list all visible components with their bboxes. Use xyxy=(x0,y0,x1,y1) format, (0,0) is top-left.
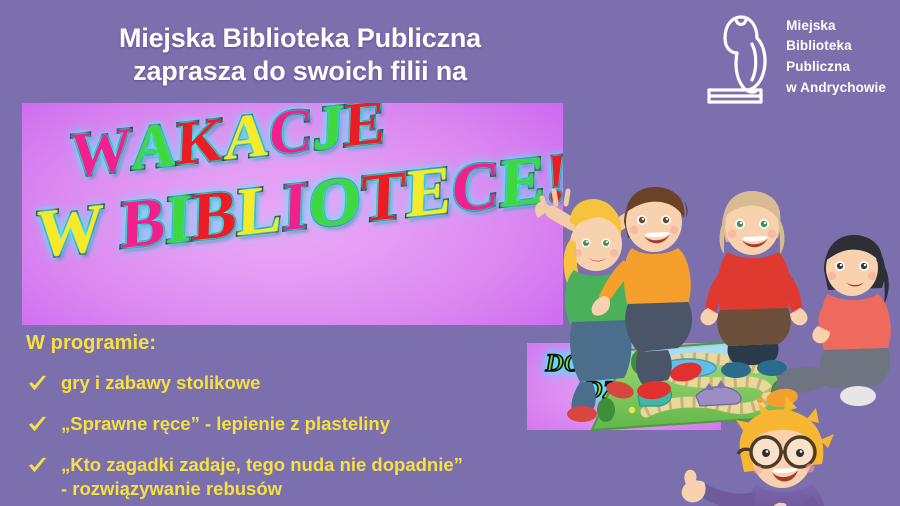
wordart-title: WAKACJE W BIBLIOTECE! xyxy=(22,103,563,325)
list-item: gry i zabawy stolikowe xyxy=(26,371,536,396)
logo-line-4: w Andrychowie xyxy=(786,78,886,99)
wordart-letter: E xyxy=(405,150,453,235)
wordart-letter: C xyxy=(268,103,315,171)
wordart-letter: O xyxy=(307,159,362,244)
wordart-letter: E xyxy=(343,103,386,163)
wordart-letter: C xyxy=(450,144,501,229)
list-item: „Sprawne ręce” - lepienie z plasteliny xyxy=(26,412,536,437)
check-icon xyxy=(26,455,49,478)
wordart-letter: B xyxy=(191,173,239,258)
main-banner: WAKACJE W BIBLIOTECE! xyxy=(22,103,563,325)
list-item-label: „Kto zagadki zadaje, tego nuda nie dopad… xyxy=(61,453,463,502)
children-illustration xyxy=(528,100,900,506)
wordart-letter: I xyxy=(164,178,193,261)
wordart-letter: A xyxy=(223,103,270,176)
page-title-line2: zaprasza do swoich filii na xyxy=(40,55,560,88)
scene-svg xyxy=(528,100,900,506)
program-section: W programie: gry i zabawy stolikowe „Spr… xyxy=(26,332,536,502)
wordart-letter: I xyxy=(281,165,310,248)
page-title: Miejska Biblioteka Publiczna zaprasza do… xyxy=(40,22,560,88)
wordart-letter: L xyxy=(236,168,284,253)
library-logo: Miejska Biblioteka Publiczna w Andrychow… xyxy=(705,8,886,106)
list-item-line2: - rozwiązywanie rebusów xyxy=(61,477,463,501)
logo-line-3: Publiczna xyxy=(786,57,886,78)
wordart-letter: J xyxy=(312,103,345,166)
wordart-letter: B xyxy=(119,181,167,266)
wordart-letter: W xyxy=(35,187,105,274)
check-icon xyxy=(26,373,49,396)
program-heading: W programie: xyxy=(26,332,536,355)
logo-line-1: Miejska xyxy=(786,16,886,37)
poster-root: Miejska Biblioteka Publiczna zaprasza do… xyxy=(0,0,900,506)
wordart-letter: W xyxy=(69,114,133,192)
list-item-label: gry i zabawy stolikowe xyxy=(61,371,260,395)
list-item-line1: „Kto zagadki zadaje, tego nuda nie dopad… xyxy=(61,454,463,475)
wordart-letter: K xyxy=(175,104,225,181)
check-icon xyxy=(26,414,49,437)
wordart-letter: A xyxy=(131,109,178,185)
page-title-line1: Miejska Biblioteka Publiczna xyxy=(119,23,481,53)
list-item-label: „Sprawne ręce” - lepienie z plasteliny xyxy=(61,412,390,436)
owl-on-books-icon xyxy=(705,8,777,106)
wordart-letter: T xyxy=(360,154,408,239)
list-item: „Kto zagadki zadaje, tego nuda nie dopad… xyxy=(26,453,536,502)
logo-text: Miejska Biblioteka Publiczna w Andrychow… xyxy=(786,16,886,98)
logo-line-2: Biblioteka xyxy=(786,36,886,57)
